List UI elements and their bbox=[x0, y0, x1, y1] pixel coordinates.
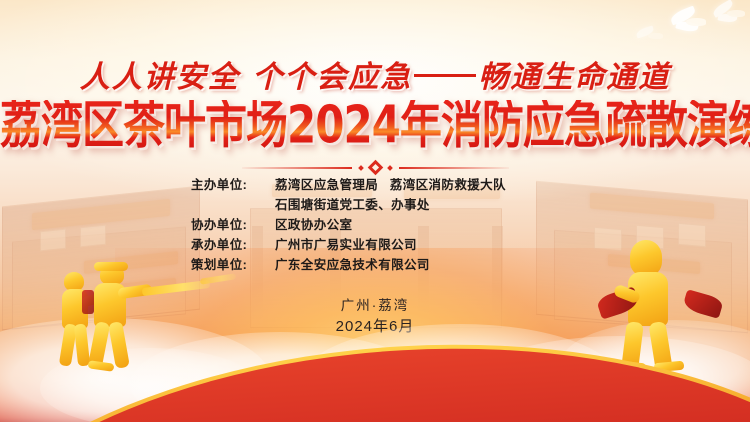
divider-dot-icon bbox=[358, 165, 364, 171]
organizer-label: 主办单位: bbox=[191, 176, 275, 195]
poster-canvas: 人人讲安全 个个会应急畅通生命通道 荔湾区茶叶市场2024年消防应急疏散演练 主… bbox=[0, 0, 750, 422]
ornament-divider bbox=[0, 162, 750, 173]
divider-dot-icon bbox=[387, 165, 393, 171]
bottom-swoosh bbox=[0, 302, 750, 422]
organizer-value: 区政协办公室 bbox=[275, 216, 352, 235]
organizer-label: 协办单位: bbox=[191, 216, 275, 235]
slogan-part1: 人人讲安全 个个会应急 bbox=[80, 60, 412, 95]
swoosh-red-left bbox=[0, 322, 750, 422]
organizer-label: 承办单位: bbox=[191, 236, 275, 255]
organizer-value: 荔湾区应急管理局 荔湾区消防救援大队 bbox=[275, 176, 506, 195]
divider-line-left bbox=[242, 167, 352, 169]
divider-line-right bbox=[399, 167, 509, 169]
slogan-text: 人人讲安全 个个会应急畅通生命通道 bbox=[0, 52, 750, 96]
dove-icon bbox=[636, 26, 666, 46]
organizer-value: 广州市广易实业有限公司 bbox=[275, 236, 417, 255]
organizer-row: 承办单位: 广州市广易实业有限公司 bbox=[191, 236, 559, 255]
organizer-row: 石围塘街道党工委、办事处 bbox=[191, 196, 559, 215]
organizer-value: 石围塘街道党工委、办事处 bbox=[275, 196, 430, 215]
slogan-dash bbox=[414, 74, 476, 77]
firefighter-helmet-brim bbox=[94, 262, 128, 271]
organizer-row: 协办单位: 区政协办公室 bbox=[191, 216, 559, 235]
slogan-part2: 畅通生命通道 bbox=[478, 60, 670, 95]
firefighter-helmet bbox=[630, 240, 662, 276]
dove-icon bbox=[668, 10, 708, 36]
dove-icon bbox=[712, 2, 748, 26]
organizer-row: 主办单位: 荔湾区应急管理局 荔湾区消防救援大队 bbox=[191, 176, 559, 195]
divider-diamond-icon bbox=[367, 160, 383, 176]
organizer-row: 策划单位: 广东全安应急技术有限公司 bbox=[191, 256, 559, 275]
page-title: 荔湾区茶叶市场2024年消防应急疏散演练 bbox=[0, 100, 750, 151]
organizer-value: 广东全安应急技术有限公司 bbox=[275, 256, 430, 275]
